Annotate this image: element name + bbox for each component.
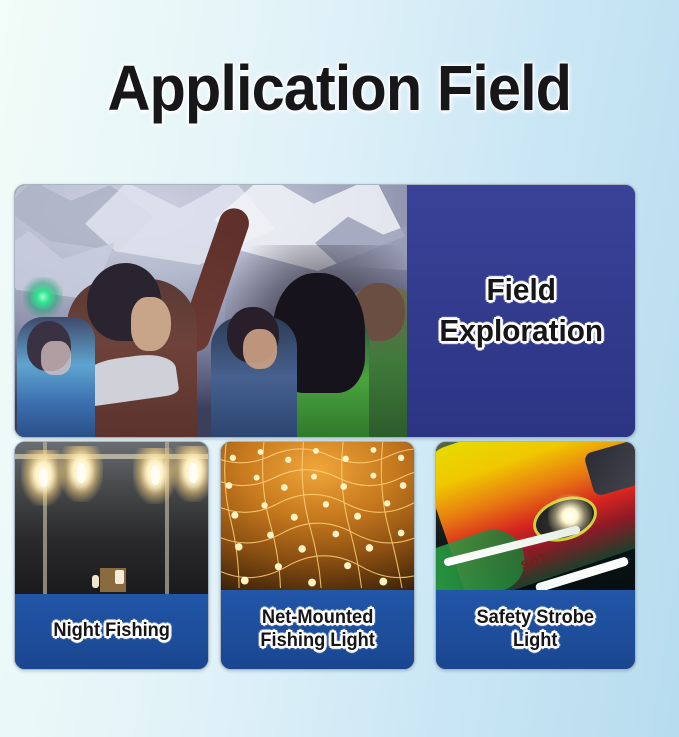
fishing-equipment [115,570,124,584]
hero-card-field-exploration[interactable]: Field Exploration [14,184,636,438]
person-face [243,329,277,369]
person-face [41,341,71,375]
hero-label-line2: Exploration [439,313,603,350]
label-band-night-fishing: Night Fishing [15,594,208,669]
net-mesh-graphic [221,442,414,588]
card-label-net-mounted-line2: Fishing Light [260,630,374,652]
photo-safety-strobe-light: SOT [436,442,635,590]
card-label-safety-strobe-line1: Safety Strobe [477,607,595,629]
light-bulb [171,446,208,502]
photo-night-fishing [15,442,208,594]
net-light-background [221,442,414,590]
photo-net-mounted-fishing-light [221,442,414,590]
person-face [131,297,171,351]
green-glow-light [23,277,63,317]
card-night-fishing[interactable]: Night Fishing [14,441,209,670]
page-header: Application Field [0,0,679,175]
hero-label-line1: Field [486,272,555,309]
hero-label-panel: Field Exploration [407,185,635,437]
card-net-mounted-fishing-light[interactable]: Net-Mounted Fishing Light [220,441,415,670]
label-band-safety-strobe: Safety Strobe Light [436,590,635,669]
card-safety-strobe-light[interactable]: SOT Safety Strobe Light [435,441,636,670]
light-bulb [59,446,103,502]
card-label-net-mounted-line1: Net-Mounted [260,607,374,629]
fishing-equipment [92,575,99,588]
label-band-net-mounted: Net-Mounted Fishing Light [221,590,414,669]
page-title: Application Field [108,51,572,125]
card-label-safety-strobe-line2: Light [477,630,595,652]
hero-photo-field-exploration [15,185,407,437]
card-label-night-fishing: Night Fishing [53,620,170,642]
